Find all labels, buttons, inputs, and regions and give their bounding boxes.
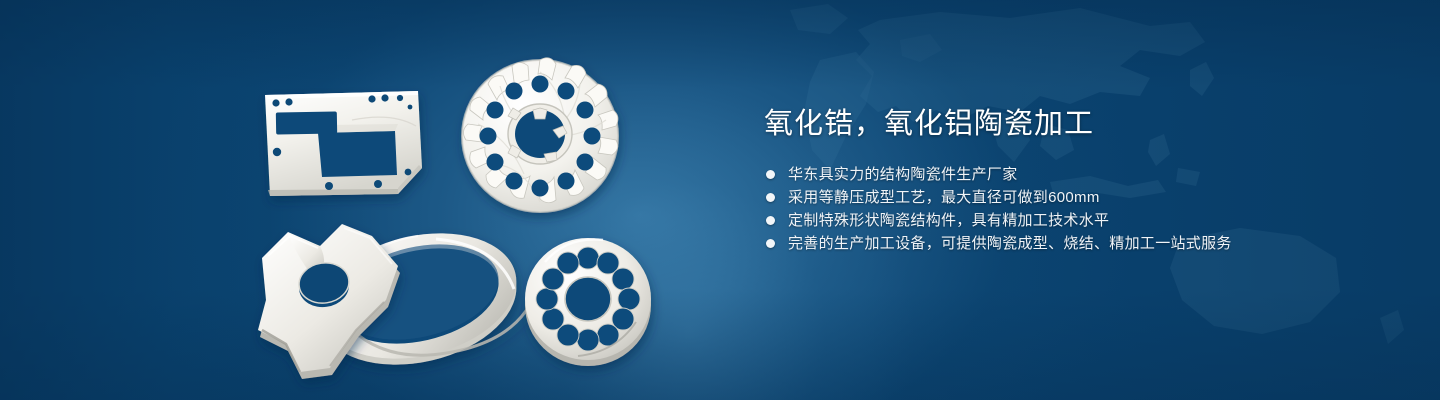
bullet-dot-icon xyxy=(766,216,775,225)
ceramic-flat-plate xyxy=(265,91,422,196)
bullet-text: 采用等静压成型工艺，最大直径可做到600mm xyxy=(788,189,1100,206)
banner-feature-list: 华东具实力的结构陶瓷件生产厂家 采用等静压成型工艺，最大直径可做到600mm 定… xyxy=(766,166,1384,252)
bullet-text: 完善的生产加工设备，可提供陶瓷成型、烧结、精加工一站式服务 xyxy=(788,235,1232,252)
bullet-text: 定制特殊形状陶瓷结构件，具有精加工技术水平 xyxy=(788,212,1109,229)
bullet-text: 华东具实力的结构陶瓷件生产厂家 xyxy=(788,166,1018,183)
promo-banner: 氧化锆，氧化铝陶瓷加工 华东具实力的结构陶瓷件生产厂家 采用等静压成型工艺，最大… xyxy=(0,0,1440,400)
bullet-dot-icon xyxy=(766,170,775,179)
bullet-dot-icon xyxy=(766,239,775,248)
list-item: 完善的生产加工设备，可提供陶瓷成型、烧结、精加工一站式服务 xyxy=(766,235,1384,252)
bullet-dot-icon xyxy=(766,193,775,202)
banner-headline: 氧化锆，氧化铝陶瓷加工 xyxy=(764,104,1384,144)
banner-copy: 氧化锆，氧化铝陶瓷加工 华东具实力的结构陶瓷件生产厂家 采用等静压成型工艺，最大… xyxy=(764,104,1384,258)
list-item: 华东具实力的结构陶瓷件生产厂家 xyxy=(766,166,1384,183)
list-item: 定制特殊形状陶瓷结构件，具有精加工技术水平 xyxy=(766,212,1384,229)
ceramic-parts-artwork xyxy=(0,0,720,400)
list-item: 采用等静压成型工艺，最大直径可做到600mm xyxy=(766,189,1384,206)
ceramic-perforated-disc xyxy=(525,238,651,366)
ceramic-impeller-rotor xyxy=(462,58,618,212)
